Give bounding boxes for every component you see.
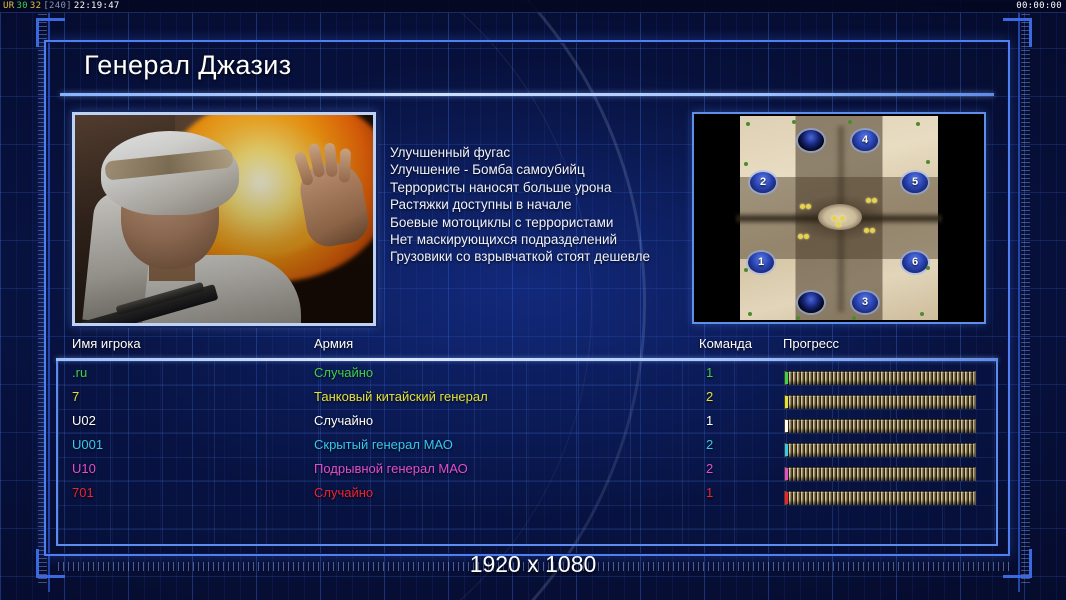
player-army: Случайно bbox=[314, 413, 373, 428]
minimap-supply-dock bbox=[800, 204, 805, 209]
page-title: Генерал Джазиз bbox=[84, 50, 292, 81]
general-portrait bbox=[72, 112, 376, 326]
minimap-tech-building bbox=[852, 316, 856, 320]
resolution-label: 1920 x 1080 bbox=[0, 551, 1066, 578]
player-team: 2 bbox=[706, 389, 713, 404]
fps-value: 30 bbox=[15, 1, 28, 11]
minimap-tech-building bbox=[796, 316, 800, 320]
top-status-bar: UR3032[240]22:19:47 00:00:00 bbox=[0, 0, 1066, 13]
player-name: U001 bbox=[72, 437, 103, 452]
minimap-tech-building bbox=[746, 122, 750, 126]
player-name: 7 bbox=[72, 389, 79, 404]
panel-title-bar: Генерал Джазиз bbox=[60, 48, 994, 96]
player-team: 1 bbox=[706, 485, 713, 500]
player-army: Подрывной генерал МАО bbox=[314, 461, 468, 476]
frame-bracket-value: [240] bbox=[42, 1, 73, 11]
player-progress-bar bbox=[784, 491, 976, 505]
table-row[interactable]: U001Скрытый генерал МАО2 bbox=[58, 437, 996, 461]
minimap-tech-building bbox=[848, 120, 852, 124]
minimap-start-position: 5 bbox=[902, 172, 928, 193]
player-name: U02 bbox=[72, 413, 96, 428]
ability-line: Улучшенный фугас bbox=[390, 144, 720, 161]
minimap-tech-building bbox=[744, 268, 748, 272]
player-army: Танковый китайский генерал bbox=[314, 389, 488, 404]
minimap-tech-building bbox=[926, 266, 930, 270]
progress-bar-tip bbox=[785, 468, 788, 480]
minimap-start-position bbox=[798, 130, 824, 151]
player-name: 701 bbox=[72, 485, 94, 500]
minimap-supply-dock bbox=[832, 216, 837, 221]
map-preview[interactable]: 123456 bbox=[692, 112, 986, 324]
minimap-tech-building bbox=[748, 312, 752, 316]
player-team: 1 bbox=[706, 413, 713, 428]
player-army: Случайно bbox=[314, 485, 373, 500]
minimap-terrain: 123456 bbox=[740, 116, 938, 320]
session-timer: 00:00:00 bbox=[1016, 0, 1062, 12]
minimap-supply-dock bbox=[872, 198, 877, 203]
minimap-supply-dock bbox=[836, 222, 841, 227]
right-ruler-strip bbox=[1021, 14, 1030, 586]
column-header-team: Команда bbox=[699, 336, 752, 351]
minimap-start-position: 6 bbox=[902, 252, 928, 273]
table-row[interactable]: 7Танковый китайский генерал2 bbox=[58, 389, 996, 413]
minimap-tech-building bbox=[920, 312, 924, 316]
system-clock: 22:19:47 bbox=[73, 1, 121, 11]
table-row[interactable]: U10Подрывной генерал МАО2 bbox=[58, 461, 996, 485]
minimap-start-position: 1 bbox=[748, 252, 774, 273]
progress-bar-tip bbox=[785, 492, 788, 504]
minimap-supply-dock bbox=[804, 234, 809, 239]
minimap-tech-building bbox=[744, 162, 748, 166]
player-table-header: Имя игрока Армия Команда Прогресс bbox=[56, 336, 998, 358]
table-row[interactable]: 701Случайно1 bbox=[58, 485, 996, 509]
table-row[interactable]: .ruСлучайно1 bbox=[58, 365, 996, 389]
minimap-start-position: 2 bbox=[750, 172, 776, 193]
column-header-progress: Прогресс bbox=[783, 336, 839, 351]
minimap-tech-building bbox=[926, 160, 930, 164]
player-progress-bar bbox=[784, 467, 976, 481]
minimap-supply-dock bbox=[866, 198, 871, 203]
general-info-panel: Генерал Джазиз bbox=[44, 40, 1010, 556]
player-army: Скрытый генерал МАО bbox=[314, 437, 453, 452]
portrait-artwork bbox=[75, 115, 373, 323]
ability-line: Нет маскирующихся подразделений bbox=[390, 231, 720, 248]
panel-content-row: Улучшенный фугас Улучшение - Бомба самоу… bbox=[72, 112, 986, 324]
title-divider bbox=[60, 93, 994, 96]
minimap-start-position: 3 bbox=[852, 292, 878, 313]
right-edge-line bbox=[1018, 8, 1020, 592]
player-progress-bar bbox=[784, 443, 976, 457]
game-lobby-screen: UR3032[240]22:19:47 00:00:00 Генерал Джа… bbox=[0, 0, 1066, 600]
minimap-supply-dock bbox=[806, 204, 811, 209]
player-name: .ru bbox=[72, 365, 87, 380]
ability-line: Грузовики со взрывчаткой стоят дешевле bbox=[390, 248, 720, 265]
progress-bar-tip bbox=[785, 396, 788, 408]
player-army: Случайно bbox=[314, 365, 373, 380]
minimap-supply-dock bbox=[798, 234, 803, 239]
ability-line: Улучшение - Бомба самоубийц bbox=[390, 161, 720, 178]
player-team: 2 bbox=[706, 461, 713, 476]
player-progress-bar bbox=[784, 371, 976, 385]
player-team: 2 bbox=[706, 437, 713, 452]
player-team: 1 bbox=[706, 365, 713, 380]
minimap-supply-dock bbox=[864, 228, 869, 233]
general-abilities-list: Улучшенный фугас Улучшение - Бомба самоу… bbox=[390, 144, 720, 266]
fps-label: UR bbox=[2, 1, 15, 11]
minimap-supply-dock bbox=[840, 216, 845, 221]
column-header-name: Имя игрока bbox=[72, 336, 141, 351]
player-progress-bar bbox=[784, 395, 976, 409]
minimap-start-position: 4 bbox=[852, 130, 878, 151]
minimap-tech-building bbox=[916, 122, 920, 126]
minimap-supply-dock bbox=[870, 228, 875, 233]
ability-line: Боевые мотоциклы с террористами bbox=[390, 214, 720, 231]
frame-value: 32 bbox=[29, 1, 42, 11]
column-header-army: Армия bbox=[314, 336, 353, 351]
player-table-body: .ruСлучайно17Танковый китайский генерал2… bbox=[56, 361, 998, 546]
progress-bar-tip bbox=[785, 372, 788, 384]
table-row[interactable]: U02Случайно1 bbox=[58, 413, 996, 437]
minimap-tech-building bbox=[792, 120, 796, 124]
performance-readout: UR3032[240]22:19:47 bbox=[2, 0, 121, 12]
progress-bar-tip bbox=[785, 444, 788, 456]
minimap-start-position bbox=[798, 292, 824, 313]
progress-bar-tip bbox=[785, 420, 788, 432]
ability-line: Террористы наносят больше урона bbox=[390, 179, 720, 196]
portrait-vignette bbox=[75, 115, 373, 323]
ability-line: Растяжки доступны в начале bbox=[390, 196, 720, 213]
player-progress-bar bbox=[784, 419, 976, 433]
player-name: U10 bbox=[72, 461, 96, 476]
